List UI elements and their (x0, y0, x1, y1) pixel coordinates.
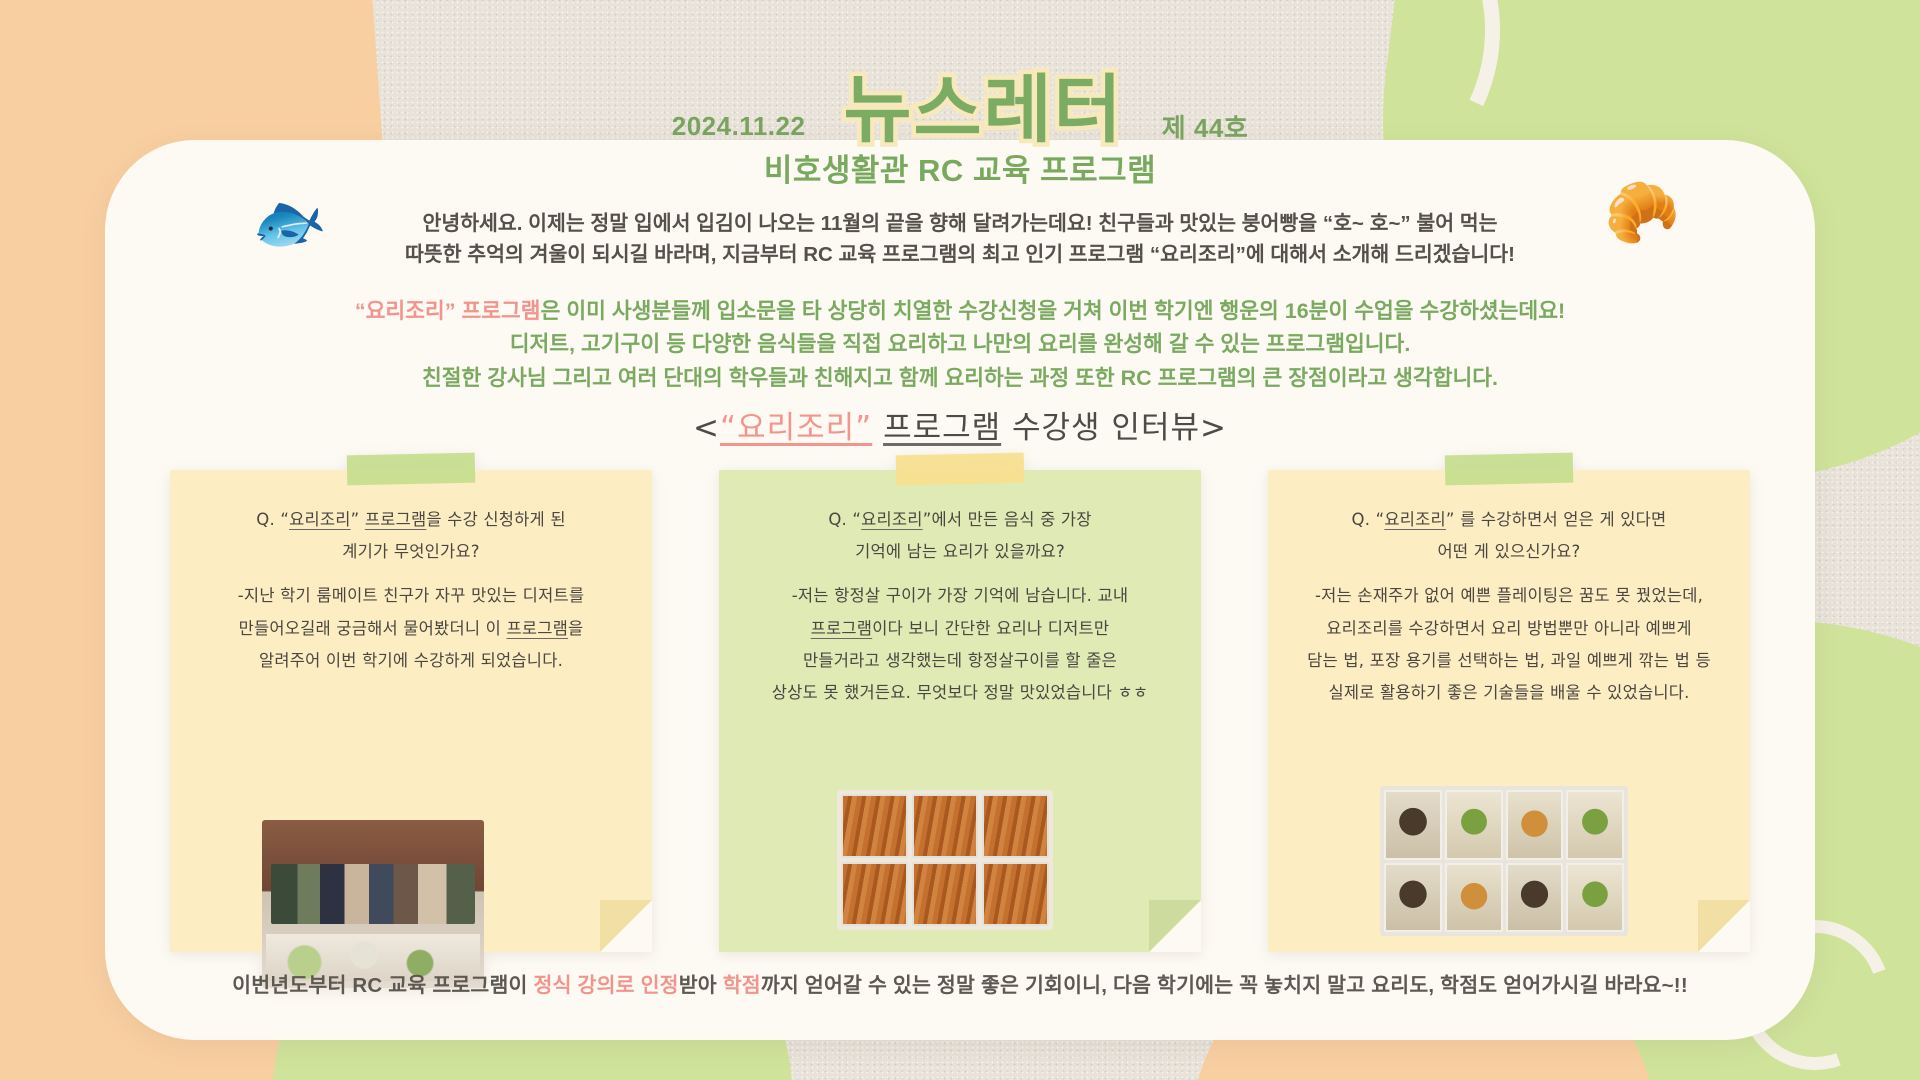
question-line-1: Q. “요리조리” 를 수강하면서 얻은 게 있다면 (1292, 504, 1726, 536)
heading-program-word: 프로그램 (883, 410, 1001, 446)
footer-highlight-1: 정식 강의로 인정 (534, 974, 679, 997)
interview-card[interactable]: Q. “요리조리” 를 수강하면서 얻은 게 있다면 어떤 게 있으신가요? -… (1268, 470, 1750, 952)
card-question: Q. “요리조리” 를 수강하면서 얻은 게 있다면 어떤 게 있으신가요? (1292, 504, 1726, 568)
footer-part-1: 이번년도부터 RC 교육 프로그램이 (232, 974, 533, 997)
body-line-1: “요리조리” 프로그램은 이미 사생분들께 입소문을 타 상당히 치열한 수강신… (190, 295, 1730, 328)
heading-close-bracket: > (1200, 410, 1227, 446)
interview-card-list: Q. “요리조리” 프로그램을 수강 신청하게 된 계기가 무엇인가요? -지난… (170, 470, 1750, 952)
answer-line-3: 알려주어 이번 학기에 수강하게 되었습니다. (194, 645, 628, 677)
heading-program-quoted: “요리조리” (720, 410, 872, 446)
footer-highlight-2: 학점 (723, 974, 761, 997)
card-answer: -지난 학기 룸메이트 친구가 자꾸 맛있는 디저트를 만들어오길래 궁금해서 … (194, 580, 628, 677)
interview-card[interactable]: Q. “요리조리” 프로그램을 수강 신청하게 된 계기가 무엇인가요? -지난… (170, 470, 652, 952)
card-answer: -저는 항정살 구이가 가장 기억에 남습니다. 교내 프로그램이다 보니 간단… (743, 580, 1177, 709)
answer-line-4: 실제로 활용하기 좋은 기술들을 배울 수 있었습니다. (1292, 677, 1726, 709)
footer-part-3: 까지 얻어갈 수 있는 정말 좋은 기회이니, 다음 학기에는 꼭 놓치지 말고… (761, 974, 1688, 997)
body-line-2: 디저트, 고기구이 등 다양한 음식들을 직접 요리하고 나만의 요리를 완성해… (190, 328, 1730, 361)
heading-open-bracket: < (693, 410, 720, 446)
folded-corner (1149, 900, 1201, 952)
answer-line-2: 요리조리를 수강하면서 요리 방법뿐만 아니라 예쁘게 (1292, 613, 1726, 645)
answer-line-2: 프로그램이다 보니 간단한 요리나 디저트만 (743, 613, 1177, 645)
washi-tape (896, 453, 1025, 486)
footer-part-2: 받아 (679, 974, 723, 997)
interview-heading: <“요리조리” 프로그램 수강생 인터뷰> (105, 402, 1815, 447)
page-title: 뉴스레터 (843, 73, 1123, 147)
a-program-word: 프로그램 (506, 619, 568, 638)
answer-line-3: 만들거라고 생각했는데 항정살구이를 할 줄은 (743, 645, 1177, 677)
answer-line-1: -지난 학기 룸메이트 친구가 자꾸 맛있는 디저트를 (194, 580, 628, 612)
dessert-plating-photo (1380, 786, 1628, 936)
question-line-1: Q. “요리조리” 프로그램을 수강 신청하게 된 (194, 504, 628, 536)
q-suffix: ”에서 만든 음식 중 가장 (923, 510, 1092, 529)
question-line-2: 기억에 남는 요리가 있을까요? (743, 536, 1177, 568)
body-paragraph: “요리조리” 프로그램은 이미 사생분들께 입소문을 타 상당히 치열한 수강신… (190, 295, 1730, 395)
a-suffix: 이다 보니 간단한 요리나 디저트만 (872, 619, 1109, 638)
body-line-3: 친절한 강사님 그리고 여러 단대의 학우들과 친해지고 함께 요리하는 과정 … (190, 362, 1730, 395)
a-suffix: 을 (568, 619, 583, 638)
newsletter-page: 2024.11.22 뉴스레터 제 44호 비호생활관 RC 교육 프로그램 🐟… (0, 0, 1920, 1080)
intro-paragraph: 안녕하세요. 이제는 정말 입에서 입김이 나오는 11월의 끝을 향해 달려가… (245, 208, 1675, 270)
heading-rest: 수강생 인터뷰 (1012, 410, 1200, 446)
question-line-1: Q. “요리조리”에서 만든 음식 중 가장 (743, 504, 1177, 536)
q-program-name: 요리조리 (1384, 510, 1446, 529)
answer-line-2: 만들어오길래 궁금해서 물어봤더니 이 프로그램을 (194, 613, 628, 645)
grilled-pork-photo (837, 790, 1053, 930)
washi-tape (1445, 453, 1574, 486)
card-question: Q. “요리조리” 프로그램을 수강 신청하게 된 계기가 무엇인가요? (194, 504, 628, 568)
q-suffix: ” 를 수강하면서 얻은 게 있다면 (1446, 510, 1667, 529)
q-program-name: 요리조리 (289, 510, 351, 529)
answer-line-3: 담는 법, 포장 용기를 선택하는 법, 과일 예쁘게 깎는 법 등 (1292, 645, 1726, 677)
folded-corner (600, 900, 652, 952)
issue-date: 2024.11.22 (672, 79, 806, 142)
intro-line-1: 안녕하세요. 이제는 정말 입에서 입김이 나오는 11월의 끝을 향해 달려가… (245, 208, 1675, 239)
a-prefix: 만들어오길래 궁금해서 물어봤더니 이 (239, 619, 507, 638)
interview-card[interactable]: Q. “요리조리”에서 만든 음식 중 가장 기억에 남는 요리가 있을까요? … (719, 470, 1201, 952)
q-prefix: Q. “ (828, 510, 861, 529)
answer-line-1: -저는 항정살 구이가 가장 기억에 남습니다. 교내 (743, 580, 1177, 612)
body-line-1-rest: 은 이미 사생분들께 입소문을 타 상당히 치열한 수강신청을 거쳐 이번 학기… (541, 299, 1566, 323)
q-suffix: 을 수강 신청하게 된 (426, 510, 565, 529)
cooking-class-photo (262, 820, 484, 988)
q-program-word: 프로그램 (365, 510, 427, 529)
intro-line-2: 따뜻한 추억의 겨울이 되시길 바라며, 지금부터 RC 교육 프로그램의 최고… (245, 239, 1675, 270)
program-name-highlight: “요리조리” 프로그램 (355, 299, 541, 323)
question-line-2: 계기가 무엇인가요? (194, 536, 628, 568)
q-mid: ” (351, 510, 365, 529)
folded-corner (1698, 900, 1750, 952)
answer-line-1: -저는 손재주가 없어 예쁜 플레이팅은 꿈도 못 꿨었는데, (1292, 580, 1726, 612)
a-program-word: 프로그램 (811, 619, 873, 638)
answer-line-4: 상상도 못 했거든요. 무엇보다 정말 맛있었습니다 ㅎㅎ (743, 677, 1177, 709)
question-line-2: 어떤 게 있으신가요? (1292, 536, 1726, 568)
q-program-name: 요리조리 (861, 510, 923, 529)
card-answer: -저는 손재주가 없어 예쁜 플레이팅은 꿈도 못 꿨었는데, 요리조리를 수강… (1292, 580, 1726, 709)
newsletter-sheet: 2024.11.22 뉴스레터 제 44호 비호생활관 RC 교육 프로그램 🐟… (105, 140, 1815, 1040)
footer-note: 이번년도부터 RC 교육 프로그램이 정식 강의로 인정받아 학점까지 얻어갈 … (185, 968, 1735, 998)
issue-number: 제 44호 (1162, 76, 1248, 145)
sub-title: 비호생활관 RC 교육 프로그램 (105, 145, 1815, 190)
q-prefix: Q. “ (1352, 510, 1385, 529)
card-question: Q. “요리조리”에서 만든 음식 중 가장 기억에 남는 요리가 있을까요? (743, 504, 1177, 568)
washi-tape (347, 453, 476, 486)
q-prefix: Q. “ (256, 510, 289, 529)
